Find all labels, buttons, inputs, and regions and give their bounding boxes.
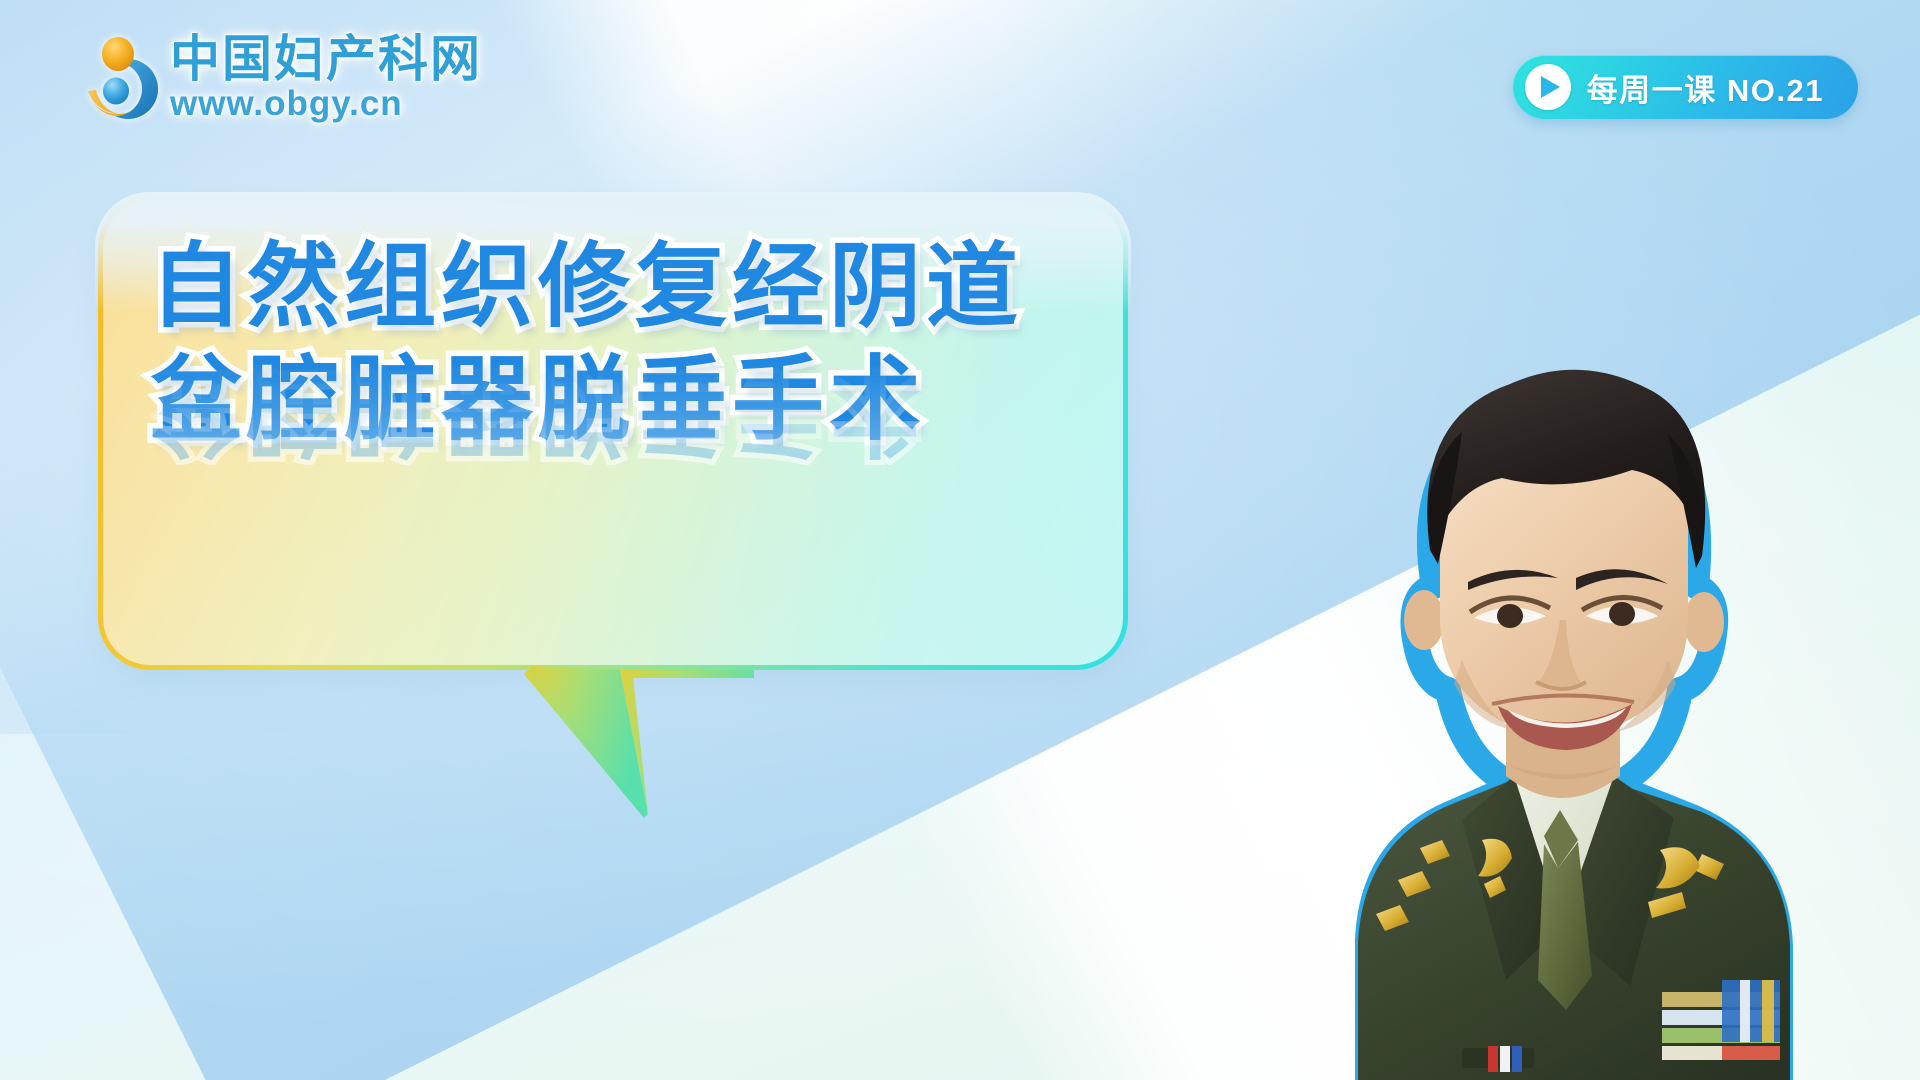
speech-bubble-tail-icon <box>498 664 758 834</box>
title-reflection: 盆腔脏器脱垂手术 <box>150 359 1128 466</box>
obgy-person-circle-logo-icon <box>84 36 160 120</box>
ear-right <box>1684 592 1724 652</box>
play-icon[interactable] <box>1525 64 1571 110</box>
eye-right-iris <box>1609 602 1635 626</box>
ear-left <box>1404 590 1444 650</box>
title-line-1: 自然组织修复经阴道 <box>150 234 1128 341</box>
ribbon-bars <box>1662 980 1780 1060</box>
speaker-portrait <box>1162 220 1862 1080</box>
logo-text-group: 中国妇产科网 www.obgy.cn <box>170 34 482 121</box>
title-block: 自然组织修复经阴道 盆腔脏器脱垂手术 盆腔脏器脱垂手术 <box>98 234 1128 572</box>
site-logo[interactable]: 中国妇产科网 www.obgy.cn <box>84 34 482 121</box>
episode-badge[interactable]: 每周一课 NO.21 <box>1513 55 1858 119</box>
title-speech-bubble: 自然组织修复经阴道 盆腔脏器脱垂手术 盆腔脏器脱垂手术 <box>98 196 1128 670</box>
poster-canvas: 中国妇产科网 www.obgy.cn 每周一课 NO.21 自然组织修复经阴道 … <box>0 0 1920 1080</box>
logo-site-name: 中国妇产科网 <box>170 34 482 84</box>
episode-badge-label: 每周一课 NO.21 <box>1587 65 1824 110</box>
eye-left-iris <box>1497 604 1523 628</box>
logo-site-url: www.obgy.cn <box>170 86 482 121</box>
